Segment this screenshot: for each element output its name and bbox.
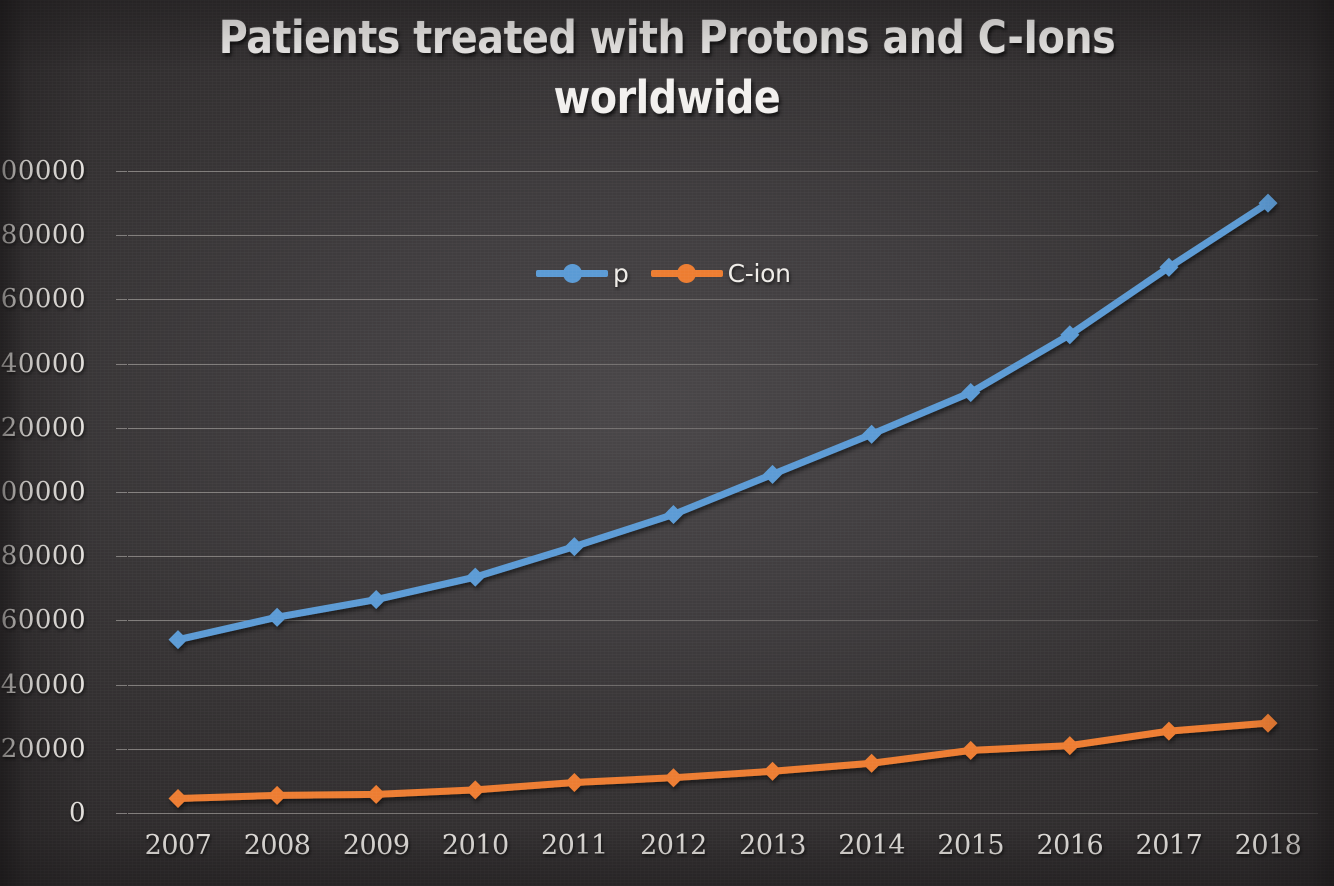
chart-image: Patients treated with Protons and C-Ions… [0,0,1334,886]
data-point-marker-core [865,757,878,770]
y-axis-tick-mark [116,813,127,814]
data-point-marker-core [370,788,383,801]
data-point-marker-core [667,771,680,784]
data-point-marker-core [270,789,283,802]
data-point-marker-core [568,540,581,553]
y-axis-tick-label: 180000 [0,222,86,248]
y-axis-tick-mark [116,235,127,236]
data-point-marker-core [766,468,779,481]
y-axis-tick-label: 100000 [0,479,86,505]
legend-item-label: p [613,261,629,286]
data-point-marker-core [865,428,878,441]
y-axis-tick-mark [116,685,127,686]
y-axis-tick-label: 0 [0,800,86,826]
y-axis-tick-label: 80000 [0,543,86,569]
y-axis-tick-label: 60000 [0,607,86,633]
data-point-marker-core [270,611,283,624]
y-axis-tick-label: 40000 [0,672,86,698]
data-point-marker-core [667,508,680,521]
y-axis-tick-mark [116,620,127,621]
y-axis-tick-label: 160000 [0,286,86,312]
x-axis-tick-label: 2018 [1208,832,1328,860]
data-point-marker-core [469,783,482,796]
y-axis-tick-mark [116,428,127,429]
y-axis-tick-label: 20000 [0,736,86,762]
data-point-marker-core [964,386,977,399]
y-axis-tick-label: 140000 [0,351,86,377]
data-point-marker-core [1261,197,1274,210]
y-axis-tick-mark [116,171,127,172]
y-axis-tick-mark [116,364,127,365]
y-axis-tick-label: 200000 [0,158,86,184]
series-C-ion [169,714,1278,808]
data-point-marker-core [469,570,482,583]
series-layer [0,0,1334,886]
data-point-marker-core [171,792,184,805]
y-axis-tick-mark [116,299,127,300]
legend-item-c-ion[interactable]: C-ion [651,261,791,286]
data-point-marker-core [766,765,779,778]
legend-swatch-icon [651,270,723,277]
legend-swatch-icon [536,270,608,277]
data-point-marker-core [568,776,581,789]
data-point-marker-core [1063,739,1076,752]
page-title: Patients treated with Protons and C-Ions… [80,8,1254,128]
data-point-marker-core [964,744,977,757]
series-line [178,723,1268,798]
chart-title-line-2: worldwide [80,68,1254,128]
data-point-marker-core [1162,725,1175,738]
data-point-marker-core [1261,717,1274,730]
chart-title-line-1: Patients treated with Protons and C-Ions [219,11,1116,64]
data-point-marker-core [370,593,383,606]
y-axis-tick-mark [116,492,127,493]
chart-legend: pC-ion [536,256,791,290]
y-axis-tick-mark [116,556,127,557]
y-axis-tick-mark [116,749,127,750]
data-point-marker-core [1162,261,1175,274]
y-axis-tick-label: 120000 [0,415,86,441]
legend-item-p[interactable]: p [536,261,629,286]
data-point-marker-core [171,633,184,646]
legend-item-label: C-ion [728,261,791,286]
data-point-marker-core [1063,328,1076,341]
